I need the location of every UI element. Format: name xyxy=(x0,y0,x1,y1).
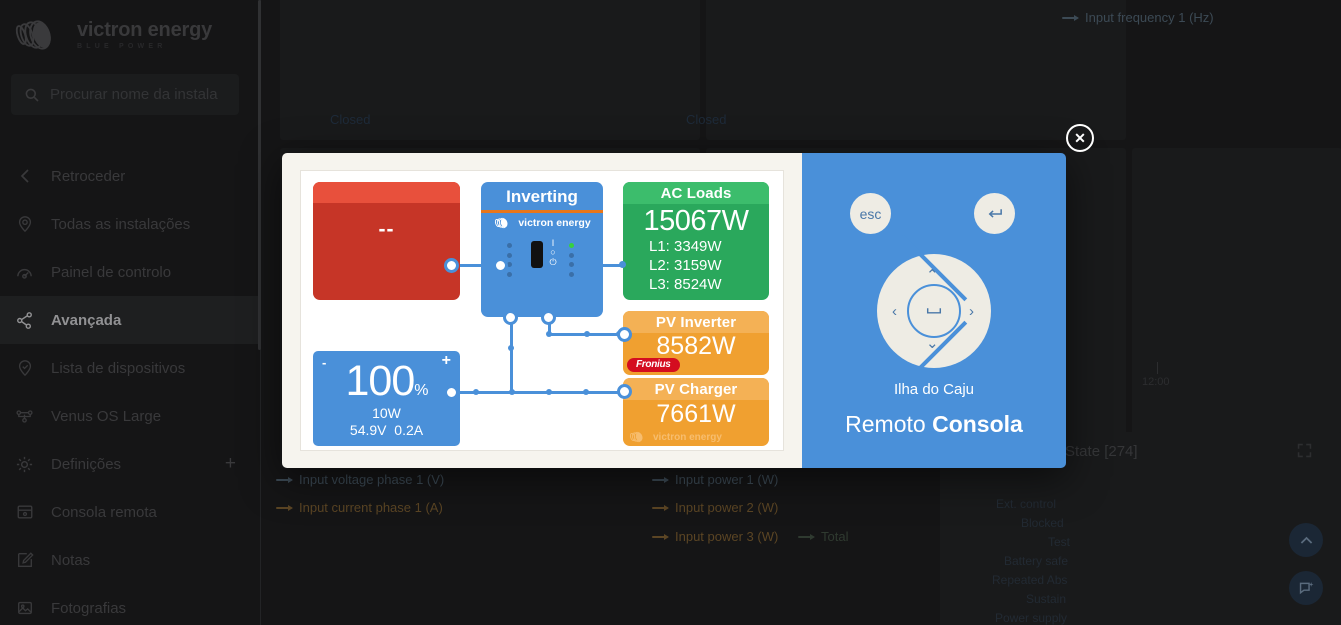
connector-ring-inverter-dc-2 xyxy=(541,310,556,325)
sidebar-nav: Retroceder Todas as instalações Painel d… xyxy=(0,152,260,625)
bg-legend-power-3: Input power 3 (W) xyxy=(652,529,778,544)
sidebar-item-label: Lista de dispositivos xyxy=(51,360,185,377)
brand-logo[interactable]: victron energy BLUE POWER xyxy=(0,0,260,52)
sidebar-item-fotografias[interactable]: Fotografias xyxy=(0,584,260,625)
sidebar-item-label: Painel de controlo xyxy=(51,264,171,281)
led xyxy=(569,262,574,267)
bg-legend-input-frequency: Input frequency 1 (Hz) xyxy=(1062,10,1214,25)
battery-soc: 100% xyxy=(313,351,460,403)
console-canvas: -- Inverting xyxy=(300,170,784,451)
dpad[interactable]: ⌃ ⌄ ‹ › xyxy=(877,254,991,368)
sidebar-item-notas[interactable]: Notas xyxy=(0,536,260,584)
flow-dot xyxy=(619,261,626,268)
led xyxy=(507,272,512,277)
led xyxy=(569,253,574,258)
pv-inverter-title: PV Inverter xyxy=(623,311,769,333)
victron-logo-icon xyxy=(493,217,513,229)
flow-dot xyxy=(509,389,515,395)
sidebar-item-label: Consola remota xyxy=(51,504,157,521)
chat-assistant-button[interactable] xyxy=(1289,571,1323,605)
bg-state-label-6: Power supply xyxy=(995,611,1067,625)
sidebar-item-label: Retroceder xyxy=(51,168,125,185)
close-icon[interactable]: ✕ xyxy=(1066,124,1094,152)
photo-icon xyxy=(14,598,35,619)
remote-title-bold: Consola xyxy=(932,411,1023,437)
bg-state-label-2: Test xyxy=(1048,535,1070,549)
inverter-led-group-left xyxy=(507,243,512,277)
ac-loads-l1: L1: 3349W xyxy=(623,238,769,257)
brand-name: victron energy xyxy=(77,20,212,40)
inverter-box: Inverting victron energy xyxy=(481,182,603,317)
bg-tick-mark xyxy=(1157,362,1158,374)
pv-charger-title: PV Charger xyxy=(623,378,769,400)
bg-closed-label-2: Closed xyxy=(686,112,726,127)
battery-plus-label: + xyxy=(442,352,451,370)
grid-box: -- xyxy=(313,182,460,300)
inverter-power-symbols-icon: I○⏻ xyxy=(546,239,560,267)
bg-state-label-5: Sustain xyxy=(1026,592,1066,606)
bg-state-label-1: Blocked xyxy=(1021,516,1064,530)
led xyxy=(507,243,512,248)
flow-dot xyxy=(583,389,589,395)
search-icon xyxy=(24,87,40,103)
battery-current: 0.2A xyxy=(394,422,423,438)
remote-title-light: Remoto xyxy=(845,411,926,437)
flow-dot xyxy=(546,331,552,337)
ac-loads-l3: L3: 8524W xyxy=(623,276,769,295)
monitor-icon xyxy=(14,502,35,523)
sidebar-item-label: Todas as instalações xyxy=(51,216,190,233)
sidebar-item-label: Fotografias xyxy=(51,600,126,617)
connector-ring-pv-inverter xyxy=(617,327,632,342)
edit-note-icon xyxy=(14,550,35,571)
victron-logo-icon xyxy=(12,18,68,52)
network-icon xyxy=(14,406,35,427)
led xyxy=(507,253,512,258)
flow-dot xyxy=(546,389,552,395)
bg-widget-5 xyxy=(1132,148,1341,468)
esc-button[interactable]: esc xyxy=(850,193,891,234)
battery-terminal-negative xyxy=(329,351,345,352)
remote-control-panel: esc ⌃ ⌄ ‹ › Ilha do Caj xyxy=(802,153,1066,468)
sidebar-item-venus-os-large[interactable]: Venus OS Large xyxy=(0,392,260,440)
bg-state-label-3: Battery safe xyxy=(1004,554,1068,568)
search-placeholder: Procurar nome da instala xyxy=(50,86,218,103)
legend-dash-icon xyxy=(652,536,668,538)
search-input[interactable]: Procurar nome da instala xyxy=(11,74,239,115)
bg-state-label-4: Repeated Abs xyxy=(992,573,1067,587)
ac-loads-l2: L2: 3159W xyxy=(623,257,769,276)
sidebar-item-consola-remota[interactable]: Consola remota xyxy=(0,488,260,536)
inverter-led-group-right xyxy=(569,243,574,277)
bg-time-tick: 12:00 xyxy=(1142,376,1170,388)
connector-ring-inverter-ac-in xyxy=(493,258,508,273)
inverter-brand-label: victron energy xyxy=(518,217,590,229)
battery-soc-value: 100 xyxy=(346,357,415,405)
venus-console-screen[interactable]: -- Inverting xyxy=(282,153,802,468)
pv-charger-value: 7661W xyxy=(623,400,769,429)
enter-key-icon xyxy=(985,206,1004,222)
bg-legend-power-2: Input power 2 (W) xyxy=(652,500,778,515)
sidebar-item-todas-as-instalacoes[interactable]: Todas as instalações xyxy=(0,200,260,248)
graph-nodes-icon xyxy=(14,310,35,331)
legend-dash-icon xyxy=(276,479,292,481)
legend-dash-icon xyxy=(1062,17,1078,19)
sidebar-item-label: Definições xyxy=(51,456,121,473)
sidebar-item-lista-de-dispositivos[interactable]: Lista de dispositivos xyxy=(0,344,260,392)
legend-dash-icon xyxy=(798,536,814,538)
remote-console-modal: -- Inverting xyxy=(282,153,1066,468)
expand-icon[interactable] xyxy=(1296,442,1313,459)
battery-minus-label: - xyxy=(322,355,326,370)
pv-inverter-value: 8582W xyxy=(623,332,769,361)
battery-power: 10W xyxy=(313,405,460,421)
pin-icon xyxy=(14,358,35,379)
sidebar-item-label: Avançada xyxy=(51,312,121,329)
dpad-right-button[interactable]: › xyxy=(969,304,974,319)
gear-icon xyxy=(14,454,35,475)
remote-console-title: Remoto Consola xyxy=(802,411,1066,438)
battery-soc-unit: % xyxy=(414,382,427,399)
space-key-icon xyxy=(925,306,943,316)
sidebar-item-retroceder[interactable]: Retroceder xyxy=(0,152,260,200)
bg-state-label-0: Ext. control xyxy=(996,497,1056,511)
flow-dot xyxy=(584,331,590,337)
connector-ring-pv-charger xyxy=(617,384,632,399)
inverter-switch-icon xyxy=(531,241,543,268)
pv-charger-box: PV Charger 7661W victron energy xyxy=(623,378,769,446)
led-active xyxy=(569,243,574,248)
battery-box: - + 100% 10W 54.9V 0.2A xyxy=(313,351,460,446)
connector-ring-battery xyxy=(444,385,459,400)
battery-voltage: 54.9V xyxy=(350,422,387,438)
fronius-logo: Fronius xyxy=(627,358,680,372)
connector-ring-inverter-dc-1 xyxy=(503,310,518,325)
sidebar-scrollbar[interactable] xyxy=(258,0,261,350)
chat-sparkle-icon xyxy=(1298,580,1315,597)
dpad-down-button[interactable]: ⌄ xyxy=(926,336,939,351)
location-icon xyxy=(14,214,35,235)
sidebar-item-painel-de-controlo[interactable]: Painel de controlo xyxy=(0,248,260,296)
pv-inverter-box: PV Inverter 8582W Fronius xyxy=(623,311,769,375)
inverter-brand: victron energy xyxy=(481,217,603,229)
brand-tagline: BLUE POWER xyxy=(77,43,212,50)
battery-voltage-current: 54.9V 0.2A xyxy=(313,422,460,438)
scroll-to-top-button[interactable] xyxy=(1289,523,1323,557)
dpad-center-button[interactable] xyxy=(907,284,961,338)
sidebar-item-label: Venus OS Large xyxy=(51,408,161,425)
dpad-up-button[interactable]: ⌃ xyxy=(926,268,939,283)
inverter-accent-line xyxy=(481,210,603,213)
dpad-left-button[interactable]: ‹ xyxy=(892,304,897,319)
pv-charger-brand: victron energy xyxy=(623,431,769,443)
grid-header-strip xyxy=(313,182,460,203)
ac-loads-total: 15067W xyxy=(623,205,769,238)
enter-button[interactable] xyxy=(974,193,1015,234)
sidebar-item-label: Notas xyxy=(51,552,90,569)
add-setting-button[interactable]: + xyxy=(225,453,236,475)
victron-logo-icon xyxy=(628,431,648,443)
flow-dot xyxy=(473,389,479,395)
gauge-icon xyxy=(14,262,35,283)
sidebar-item-definicoes[interactable]: Definições + xyxy=(0,440,260,488)
sidebar-item-avancada[interactable]: Avançada xyxy=(0,296,260,344)
legend-dash-icon xyxy=(652,479,668,481)
flow-dot xyxy=(508,345,514,351)
legend-dash-icon xyxy=(276,507,292,509)
chevron-left-icon xyxy=(14,166,35,187)
ac-loads-title: AC Loads xyxy=(623,182,769,204)
installation-name: Ilha do Caju xyxy=(802,381,1066,398)
inverter-title: Inverting xyxy=(481,182,603,207)
pv-charger-brand-label: victron energy xyxy=(653,432,722,443)
grid-value: -- xyxy=(313,219,460,240)
legend-dash-icon xyxy=(652,507,668,509)
bg-legend-total: Total xyxy=(798,529,848,544)
led xyxy=(569,272,574,277)
bg-legend-voltage-1: Input voltage phase 1 (V) xyxy=(276,472,444,487)
sidebar: victron energy BLUE POWER Procurar nome … xyxy=(0,0,261,625)
chevron-up-icon xyxy=(1298,532,1315,549)
ac-loads-box: AC Loads 15067W L1: 3349W L2: 3159W L3: … xyxy=(623,182,769,300)
bg-closed-label-1: Closed xyxy=(330,112,370,127)
connector-ring-grid xyxy=(444,258,459,273)
bg-legend-power-1: Input power 1 (W) xyxy=(652,472,778,487)
bg-legend-current-1: Input current phase 1 (A) xyxy=(276,500,443,515)
